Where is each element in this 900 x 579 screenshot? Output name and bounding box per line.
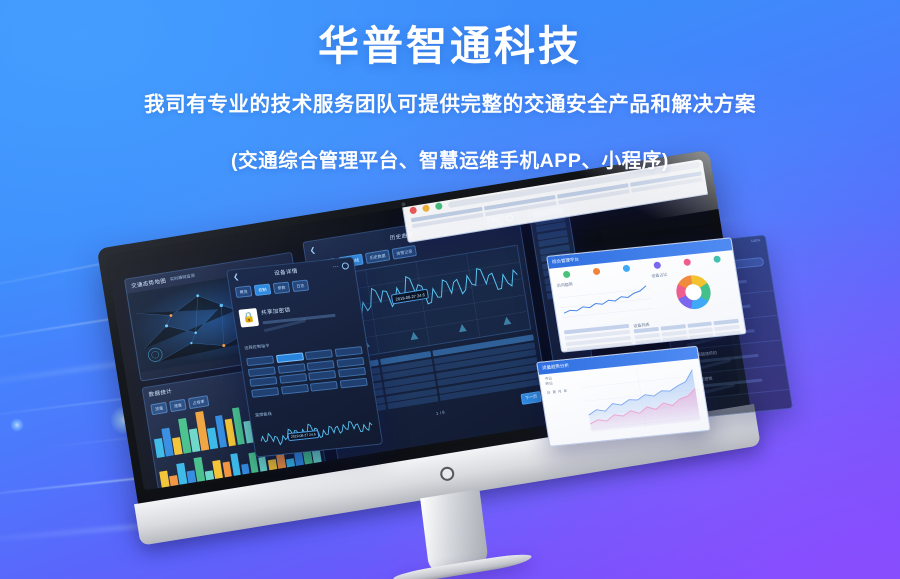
legend-item: 流量 bbox=[150, 402, 168, 415]
power-circle-icon bbox=[439, 466, 455, 482]
tab-day[interactable]: 日 bbox=[547, 390, 551, 395]
control-button[interactable] bbox=[246, 355, 274, 366]
admin-donut-card: 设备占比 bbox=[651, 265, 737, 317]
control-button[interactable] bbox=[336, 356, 364, 367]
control-button[interactable] bbox=[338, 367, 366, 378]
tab-year[interactable]: 年 bbox=[563, 388, 567, 393]
users-icon[interactable] bbox=[623, 265, 631, 273]
tab-alarm-log[interactable]: 告警记录 bbox=[392, 245, 417, 260]
legend-item: 占有率 bbox=[188, 395, 210, 409]
panel-trend[interactable]: 流量趋势分析 今日 昨日 日 周 月 年 bbox=[536, 346, 711, 447]
lock-icon: 🔒 bbox=[238, 308, 259, 328]
status-dot-amber bbox=[422, 204, 430, 212]
panel-admin-dashboard[interactable]: 综合管理平台 访问趋势 设备占比 bbox=[546, 237, 747, 353]
chevron-left-icon[interactable]: ❮ bbox=[233, 273, 240, 282]
trend-area-chart bbox=[579, 362, 704, 440]
chevron-left-icon[interactable]: ❮ bbox=[309, 246, 316, 255]
chart-icon[interactable] bbox=[592, 268, 600, 276]
control-button[interactable] bbox=[307, 360, 335, 371]
control-button[interactable] bbox=[249, 376, 277, 387]
trend-title: 流量趋势分析 bbox=[542, 363, 570, 372]
chart-bar bbox=[205, 470, 215, 486]
control-button[interactable] bbox=[251, 387, 279, 398]
chart-bar bbox=[286, 458, 296, 473]
home-icon[interactable] bbox=[562, 271, 570, 279]
donut-chart bbox=[674, 274, 713, 311]
chart-bar bbox=[176, 463, 188, 491]
control-panel-title: 设备详情 bbox=[274, 267, 299, 277]
webcam-dot-icon bbox=[401, 202, 406, 207]
chart-bar bbox=[159, 471, 170, 490]
next-page-button[interactable]: 下一页 bbox=[520, 390, 542, 404]
tab-params[interactable]: 参数 bbox=[273, 281, 291, 294]
control-chart-label: 温度曲线 bbox=[255, 410, 273, 417]
tab-overview[interactable]: 概览 bbox=[235, 285, 253, 298]
chart-bar bbox=[194, 456, 206, 487]
tab-control[interactable]: 控制 bbox=[254, 283, 272, 296]
control-button[interactable] bbox=[279, 373, 307, 384]
control-button[interactable] bbox=[280, 383, 308, 394]
admin-line-card: 访问趋势 bbox=[556, 274, 654, 328]
chart-bar bbox=[230, 453, 242, 482]
tab-month[interactable]: 月 bbox=[558, 389, 562, 394]
bar-dashboard-title: 数据统计 bbox=[148, 387, 173, 399]
gis-map-subtitle: 实时路网监测 bbox=[170, 273, 196, 283]
tab-week[interactable]: 周 bbox=[552, 389, 556, 394]
control-button[interactable] bbox=[305, 349, 333, 360]
control-button[interactable] bbox=[248, 366, 276, 377]
control-button[interactable] bbox=[308, 370, 336, 381]
control-button[interactable] bbox=[335, 346, 363, 357]
status-dot-green bbox=[435, 202, 443, 210]
control-button-selected[interactable] bbox=[276, 352, 304, 363]
headline-block: 华普智通科技 我司有专业的技术服务团队可提供完整的交通安全产品和解决方案 (交通… bbox=[0, 0, 900, 173]
device-name: 共享加密锁 bbox=[261, 307, 291, 316]
tab-log[interactable]: 日志 bbox=[292, 280, 310, 293]
light-sparkle bbox=[10, 418, 24, 432]
page-indicator: 1 / 8 bbox=[436, 409, 445, 415]
gear-icon[interactable] bbox=[341, 262, 349, 270]
control-section-label: 远程控制指令 bbox=[244, 343, 270, 351]
status-dot-red bbox=[409, 206, 417, 214]
promo-banner: 华普智通科技 我司有专业的技术服务团队可提供完整的交通安全产品和解决方案 (交通… bbox=[0, 0, 900, 579]
subheadline-primary: 我司有专业的技术服务团队可提供完整的交通安全产品和解决方案 bbox=[0, 87, 900, 117]
control-button[interactable] bbox=[277, 363, 305, 374]
bell-icon[interactable] bbox=[683, 258, 691, 266]
user-icon[interactable] bbox=[713, 255, 721, 263]
donut-card-title: 设备占比 bbox=[651, 272, 668, 280]
admin-dashboard-title: 综合管理平台 bbox=[552, 257, 580, 266]
control-button[interactable] bbox=[310, 380, 338, 391]
tab-history-data[interactable]: 历史数据 bbox=[365, 249, 390, 264]
subheadline-secondary: (交通综合管理平台、智慧运维手机APP、小程序) bbox=[0, 144, 900, 173]
trend-legend: 今日 昨日 日 周 月 年 bbox=[544, 374, 584, 443]
chart-bar bbox=[241, 463, 251, 480]
page-title: 华普智通科技 bbox=[0, 22, 900, 71]
control-button[interactable] bbox=[339, 377, 367, 388]
legend-item: 速度 bbox=[169, 399, 187, 412]
settings-icon[interactable] bbox=[653, 261, 661, 269]
ellipsis-icon[interactable]: ⋯ bbox=[332, 263, 339, 271]
